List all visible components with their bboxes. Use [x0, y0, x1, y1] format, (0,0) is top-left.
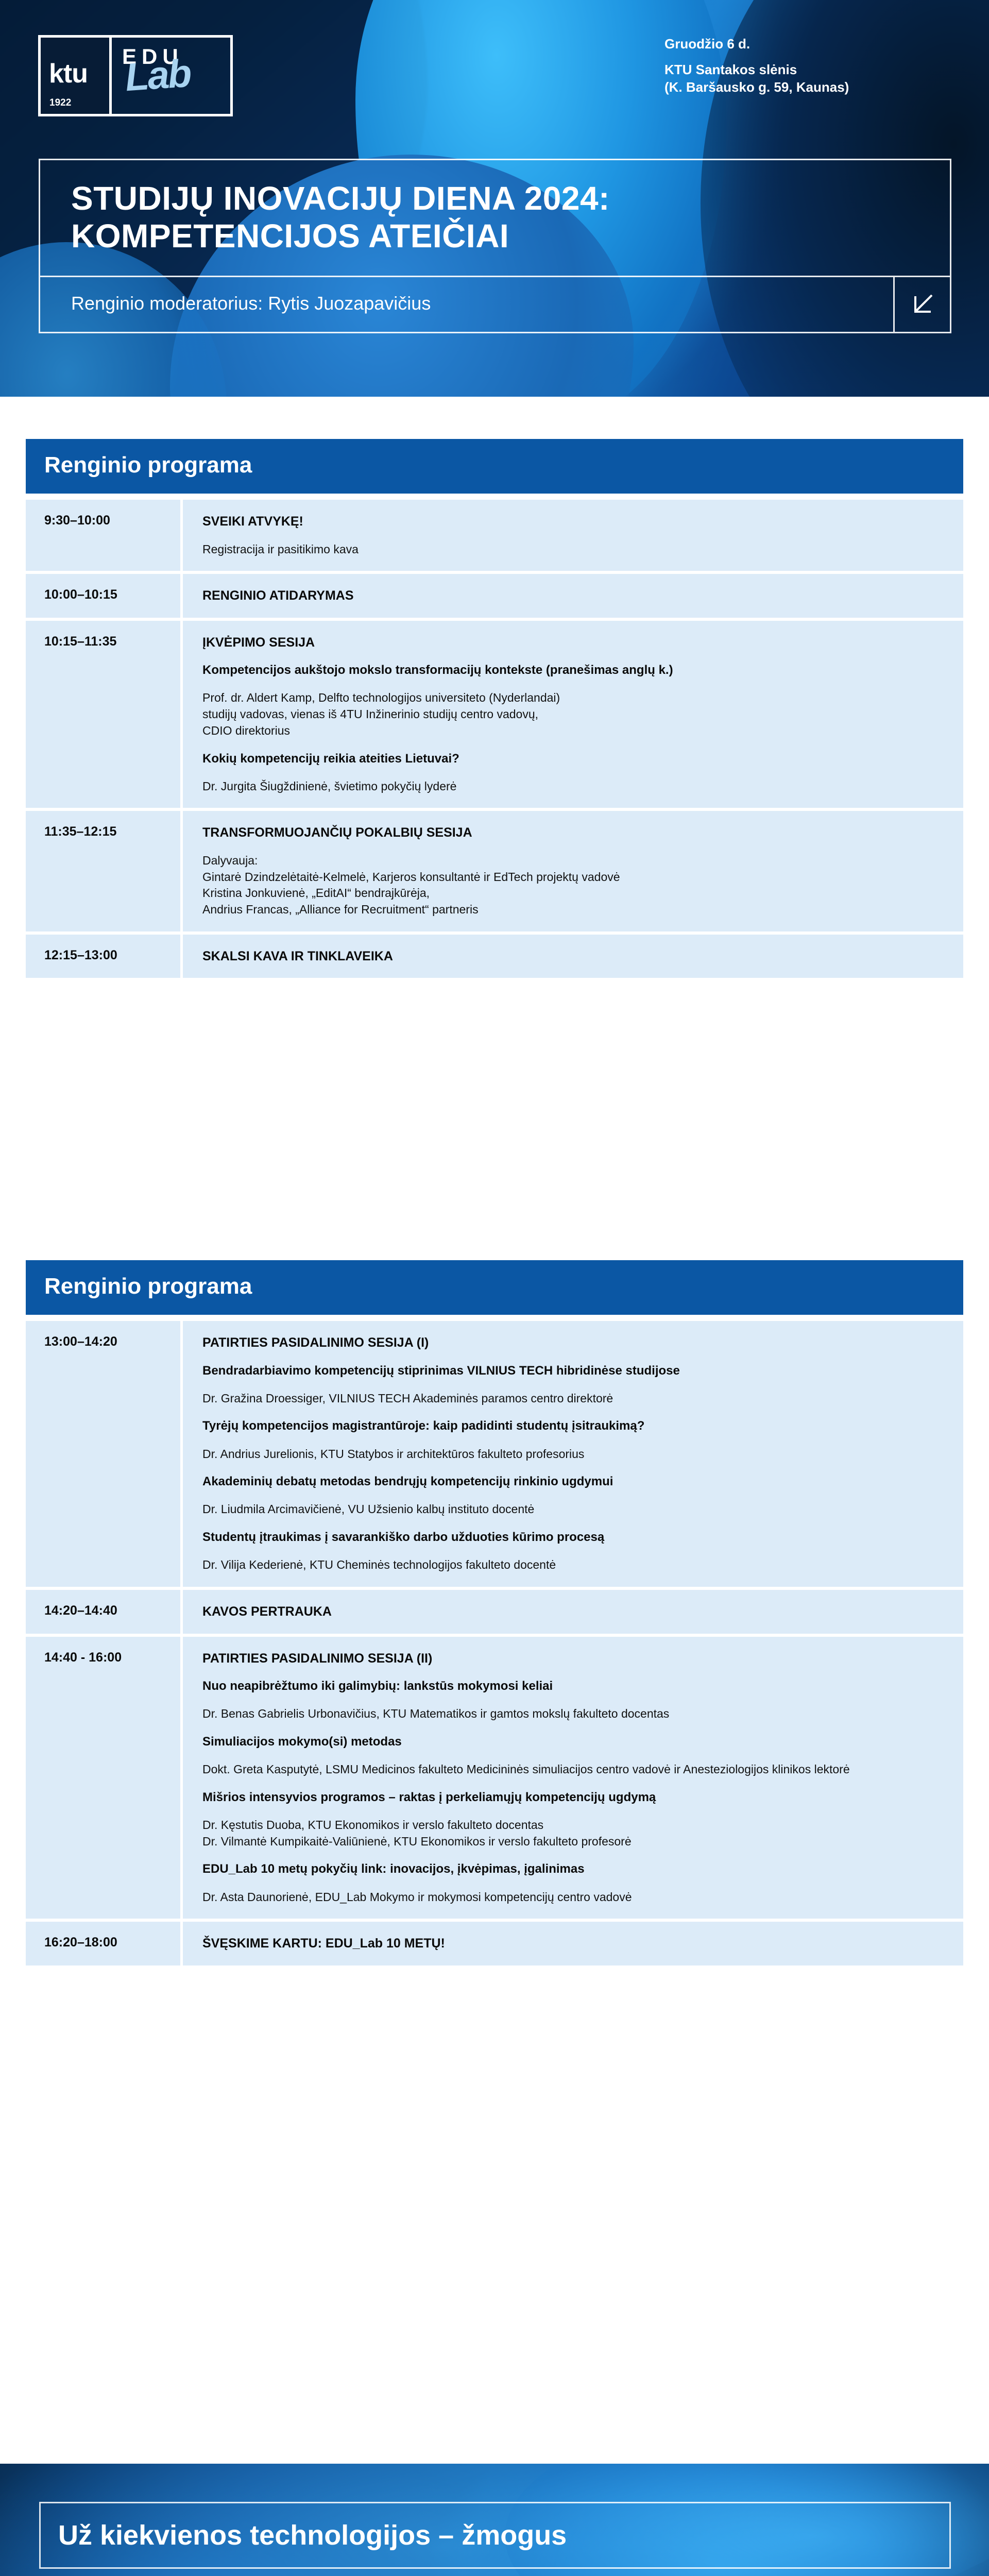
program-talk-title: Simuliacijos mokymo(si) metodas [202, 1734, 940, 1750]
event-title-frame: STUDIJŲ INOVACIJŲ DIENA 2024:KOMPETENCIJ… [39, 159, 951, 333]
ktu-wordmark: ktu [49, 60, 88, 87]
program-row: 10:00–10:15RENGINIO ATIDARYMAS [26, 574, 963, 618]
program-speaker-text: Prof. dr. Aldert Kamp, Delfto technologi… [202, 690, 940, 739]
program-speaker-text: Dr. Benas Gabrielis Urbonavičius, KTU Ma… [202, 1706, 940, 1722]
program-row: 9:30–10:00SVEIKI ATVYKĘ!Registracija ir … [26, 500, 963, 571]
poster-page: ktu 1922 EDU Lab Gruodžio 6 d. KTU Santa… [0, 0, 989, 2576]
program-session-title: SVEIKI ATVYKĘ! [202, 513, 940, 530]
program-table-1: 9:30–10:00SVEIKI ATVYKĘ!Registracija ir … [26, 497, 963, 981]
program-session-title: PATIRTIES PASIDALINIMO SESIJA (I) [202, 1334, 940, 1351]
event-title-line2: KOMPETENCIJOS ATEIČIAI [71, 217, 509, 255]
event-meta: Gruodžio 6 d. KTU Santakos slėnis (K. Ba… [664, 35, 963, 96]
program-row-body: PATIRTIES PASIDALINIMO SESIJA (I)Bendrad… [180, 1321, 963, 1587]
program-row-time: 10:00–10:15 [26, 574, 180, 618]
program-session-title: KAVOS PERTRAUKA [202, 1603, 940, 1620]
program-talk-title: Bendradarbiavimo kompetencijų stiprinima… [202, 1363, 940, 1379]
program-row-body: SVEIKI ATVYKĘ!Registracija ir pasitikimo… [180, 500, 963, 571]
program-talk-title: Kokių kompetencijų reikia ateities Lietu… [202, 751, 940, 767]
program-row-body: TRANSFORMUOJANČIŲ POKALBIŲ SESIJADalyvau… [180, 811, 963, 931]
program-session-title: ĮKVĖPIMO SESIJA [202, 634, 940, 651]
section-2-heading: Renginio programa [26, 1260, 963, 1315]
ktu-edulab-logo: ktu 1922 EDU Lab [38, 35, 233, 116]
program-row-time: 13:00–14:20 [26, 1321, 180, 1587]
program-row: 13:00–14:20PATIRTIES PASIDALINIMO SESIJA… [26, 1321, 963, 1587]
program-row: 11:35–12:15TRANSFORMUOJANČIŲ POKALBIŲ SE… [26, 811, 963, 931]
program-section-1: Renginio programa 9:30–10:00SVEIKI ATVYK… [26, 439, 963, 981]
program-speaker-text: Dr. Jurgita Šiugždinienė, švietimo pokyč… [202, 778, 940, 795]
program-talk-title: Studentų įtraukimas į savarankiško darbo… [202, 1529, 940, 1546]
program-talk-title: Nuo neapibrėžtumo iki galimybių: lankstū… [202, 1678, 940, 1694]
program-session-title: PATIRTIES PASIDALINIMO SESIJA (II) [202, 1650, 940, 1667]
program-session-title: SKALSI KAVA IR TINKLAVEIKA [202, 948, 940, 965]
program-row: 14:20–14:40KAVOS PERTRAUKA [26, 1590, 963, 1634]
program-row-time: 14:40 - 16:00 [26, 1637, 180, 1919]
event-title-line1: STUDIJŲ INOVACIJŲ DIENA 2024: [71, 180, 610, 217]
program-row-time: 9:30–10:00 [26, 500, 180, 571]
footer-banner: Už kiekvienos technologijos – žmogus [0, 2464, 989, 2576]
program-row-time: 12:15–13:00 [26, 935, 180, 978]
program-talk-title: Akademinių debatų metodas bendrųjų kompe… [202, 1473, 940, 1490]
program-row-time: 14:20–14:40 [26, 1590, 180, 1634]
page-title: STUDIJŲ INOVACIJŲ DIENA 2024:KOMPETENCIJ… [71, 180, 919, 255]
program-talk-title: Kompetencijos aukštojo mokslo transforma… [202, 662, 940, 679]
arrow-down-left-icon [893, 277, 950, 332]
event-title-block: STUDIJŲ INOVACIJŲ DIENA 2024:KOMPETENCIJ… [40, 160, 950, 276]
program-speaker-text: Dalyvauja: Gintarė Dzindzelėtaitė-Kelmel… [202, 853, 940, 918]
program-talk-title: EDU_Lab 10 metų pokyčių link: inovacijos… [202, 1861, 940, 1877]
program-row-body: ŠVĘSKIME KARTU: EDU_Lab 10 METŲ! [180, 1922, 963, 1965]
program-row-body: PATIRTIES PASIDALINIMO SESIJA (II)Nuo ne… [180, 1637, 963, 1919]
program-section-2: Renginio programa 13:00–14:20PATIRTIES P… [26, 1260, 963, 1969]
program-row-body: ĮKVĖPIMO SESIJAKompetencijos aukštojo mo… [180, 621, 963, 808]
program-row-body: RENGINIO ATIDARYMAS [180, 574, 963, 618]
ktu-logo-box: ktu 1922 [41, 38, 112, 114]
edulab-logo-box: EDU Lab [112, 38, 230, 114]
program-speaker-text: Dokt. Greta Kasputytė, LSMU Medicinos fa… [202, 1761, 940, 1778]
program-row: 16:20–18:00ŠVĘSKIME KARTU: EDU_Lab 10 ME… [26, 1922, 963, 1965]
event-date: Gruodžio 6 d. [664, 35, 963, 53]
program-speaker-text: Dr. Vilija Kederienė, KTU Cheminės techn… [202, 1557, 940, 1573]
program-speaker-text: Dr. Kęstutis Duoba, KTU Ekonomikos ir ve… [202, 1817, 940, 1850]
program-row: 10:15–11:35ĮKVĖPIMO SESIJAKompetencijos … [26, 621, 963, 808]
ktu-founding-year: 1922 [49, 97, 71, 109]
program-talk-title: Mišrios intensyvios programos – raktas į… [202, 1789, 940, 1806]
program-row: 14:40 - 16:00PATIRTIES PASIDALINIMO SESI… [26, 1637, 963, 1919]
program-speaker-text: Dr. Andrius Jurelionis, KTU Statybos ir … [202, 1446, 940, 1463]
program-speaker-text: Dr. Asta Daunorienė, EDU_Lab Mokymo ir m… [202, 1889, 940, 1906]
program-session-title: RENGINIO ATIDARYMAS [202, 587, 940, 604]
lab-wordmark: Lab [124, 54, 192, 98]
program-row-body: SKALSI KAVA IR TINKLAVEIKA [180, 935, 963, 978]
program-speaker-text: Registracija ir pasitikimo kava [202, 541, 940, 558]
program-table-2: 13:00–14:20PATIRTIES PASIDALINIMO SESIJA… [26, 1318, 963, 1969]
footer-slogan: Už kiekvienos technologijos – žmogus [58, 2521, 567, 2549]
program-session-title: TRANSFORMUOJANČIŲ POKALBIŲ SESIJA [202, 824, 940, 841]
program-row-body: KAVOS PERTRAUKA [180, 1590, 963, 1634]
event-venue-address: (K. Baršausko g. 59, Kaunas) [664, 79, 963, 96]
hero-banner: ktu 1922 EDU Lab Gruodžio 6 d. KTU Santa… [0, 0, 989, 397]
program-speaker-text: Dr. Liudmila Arcimavičienė, VU Užsienio … [202, 1501, 940, 1518]
footer-slogan-frame: Už kiekvienos technologijos – žmogus [39, 2502, 951, 2569]
section-1-heading: Renginio programa [26, 439, 963, 494]
event-moderator: Renginio moderatorius: Rytis Juozapaviči… [40, 277, 893, 332]
event-venue-name: KTU Santakos slėnis [664, 61, 963, 79]
program-session-title: ŠVĘSKIME KARTU: EDU_Lab 10 METŲ! [202, 1935, 940, 1952]
program-speaker-text: Dr. Gražina Droessiger, VILNIUS TECH Aka… [202, 1391, 940, 1407]
program-row-time: 10:15–11:35 [26, 621, 180, 808]
program-talk-title: Tyrėjų kompetencijos magistrantūroje: ka… [202, 1418, 940, 1434]
program-row-time: 11:35–12:15 [26, 811, 180, 931]
moderator-row: Renginio moderatorius: Rytis Juozapaviči… [40, 276, 950, 332]
program-row: 12:15–13:00SKALSI KAVA IR TINKLAVEIKA [26, 935, 963, 978]
program-row-time: 16:20–18:00 [26, 1922, 180, 1965]
